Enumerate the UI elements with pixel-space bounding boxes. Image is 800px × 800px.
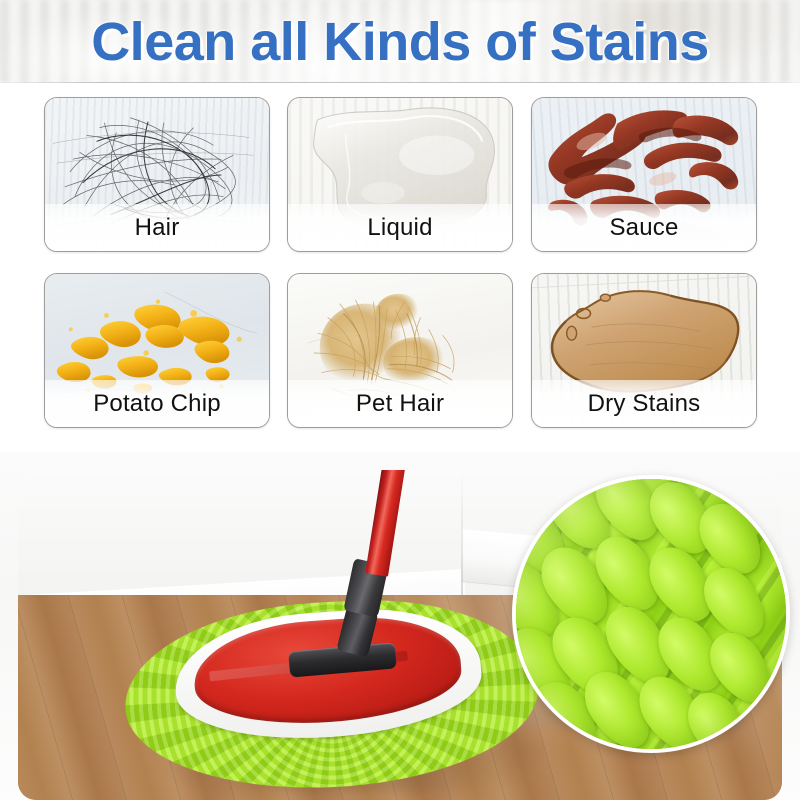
stain-card-dry-stains: Dry Stains bbox=[531, 273, 757, 428]
chenille-closeup-shading bbox=[516, 479, 786, 749]
stain-card-potato-chip: Potato Chip bbox=[44, 273, 270, 428]
stain-card-hair: Hair bbox=[44, 97, 270, 252]
stain-card-label: Liquid bbox=[288, 204, 512, 251]
chenille-closeup-callout bbox=[512, 475, 790, 753]
stain-card-pet-hair: Pet Hair bbox=[287, 273, 513, 428]
stain-card-label: Pet Hair bbox=[288, 380, 512, 427]
stain-card-label: Dry Stains bbox=[532, 380, 756, 427]
header-banner: Clean all Kinds of Stains bbox=[0, 0, 800, 83]
mop-pole bbox=[365, 470, 405, 577]
stain-card-label: Potato Chip bbox=[45, 380, 269, 427]
stain-card-label: Hair bbox=[45, 204, 269, 251]
stain-card-label: Sauce bbox=[532, 204, 756, 251]
stain-card-liquid: Liquid bbox=[287, 97, 513, 252]
stain-type-grid: Hair bbox=[0, 83, 800, 452]
page-title: Clean all Kinds of Stains bbox=[0, 14, 800, 70]
stain-card-sauce: Sauce bbox=[531, 97, 757, 252]
infographic-page: Clean all Kinds of Stains bbox=[0, 0, 800, 800]
